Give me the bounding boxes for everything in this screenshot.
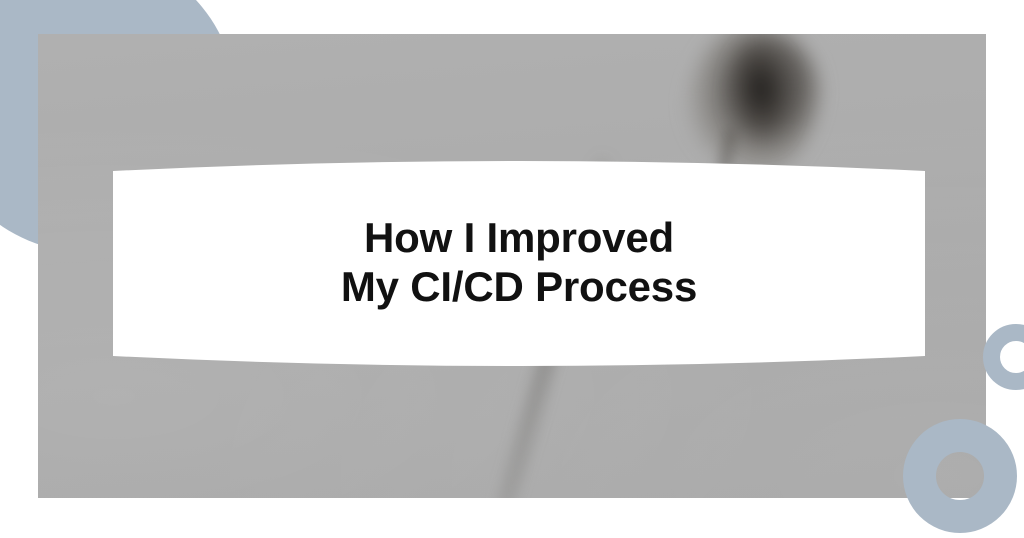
title-line-1: How I Improved — [364, 214, 674, 263]
title-text-group: How I Improved My CI/CD Process — [113, 155, 925, 370]
blog-title-card: How I Improved My CI/CD Process — [0, 0, 1024, 538]
title-line-2: My CI/CD Process — [341, 263, 697, 312]
title-banner: How I Improved My CI/CD Process — [113, 155, 925, 370]
decorative-ring-large — [903, 419, 1017, 533]
decorative-ring-small — [983, 324, 1024, 390]
